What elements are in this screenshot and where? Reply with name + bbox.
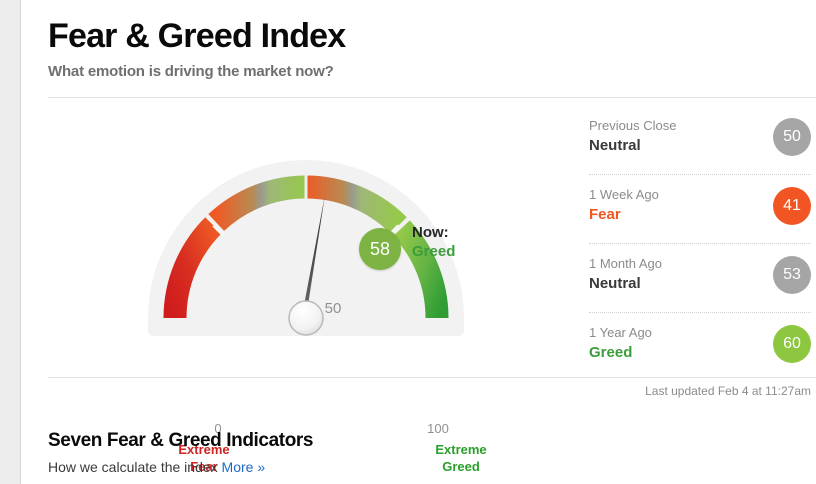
current-value: 58 bbox=[370, 239, 390, 260]
indicators-title: Seven Fear & Greed Indicators bbox=[48, 428, 748, 453]
indicators-subtitle-text: How we calculate the index bbox=[48, 459, 218, 475]
history-row-value-badge: 50 bbox=[773, 118, 811, 156]
footer-divider bbox=[48, 377, 816, 378]
history-row: 1 Year AgoGreed60 bbox=[589, 313, 811, 382]
now-block: Now: Greed bbox=[412, 223, 455, 261]
page-subtitle: What emotion is driving the market now? bbox=[48, 61, 808, 83]
fear-greed-index-card: Fear & Greed Index What emotion is drivi… bbox=[20, 0, 816, 484]
now-label: Now: bbox=[412, 223, 455, 242]
now-sentiment: Greed bbox=[412, 242, 455, 261]
history-row: Previous CloseNeutral50 bbox=[589, 106, 811, 175]
history-row-value-badge: 53 bbox=[773, 256, 811, 294]
history-row: 1 Month AgoNeutral53 bbox=[589, 244, 811, 313]
more-link[interactable]: More » bbox=[222, 459, 266, 475]
history-row: 1 Week AgoFear41 bbox=[589, 175, 811, 244]
indicators-subtitle: How we calculate the index More » bbox=[48, 457, 748, 477]
fear-greed-gauge: 58 Now: Greed 50 0 100 Extreme Fear Extr… bbox=[48, 103, 568, 375]
current-value-badge: 58 bbox=[359, 228, 401, 270]
page-background: Fear & Greed Index What emotion is drivi… bbox=[0, 0, 816, 484]
last-updated: Last updated Feb 4 at 11:27am bbox=[589, 384, 811, 398]
history-row-value-badge: 60 bbox=[773, 325, 811, 363]
indicators-section: Seven Fear & Greed Indicators How we cal… bbox=[48, 428, 748, 477]
gauge-tick-label-50: 50 bbox=[310, 300, 356, 317]
card-header: Fear & Greed Index What emotion is drivi… bbox=[48, 14, 808, 83]
page-title: Fear & Greed Index bbox=[48, 14, 808, 58]
gauge-svg bbox=[48, 103, 568, 375]
header-divider bbox=[48, 97, 816, 98]
history-row-value-badge: 41 bbox=[773, 187, 811, 225]
history-list: Previous CloseNeutral501 Week AgoFear411… bbox=[589, 106, 811, 382]
